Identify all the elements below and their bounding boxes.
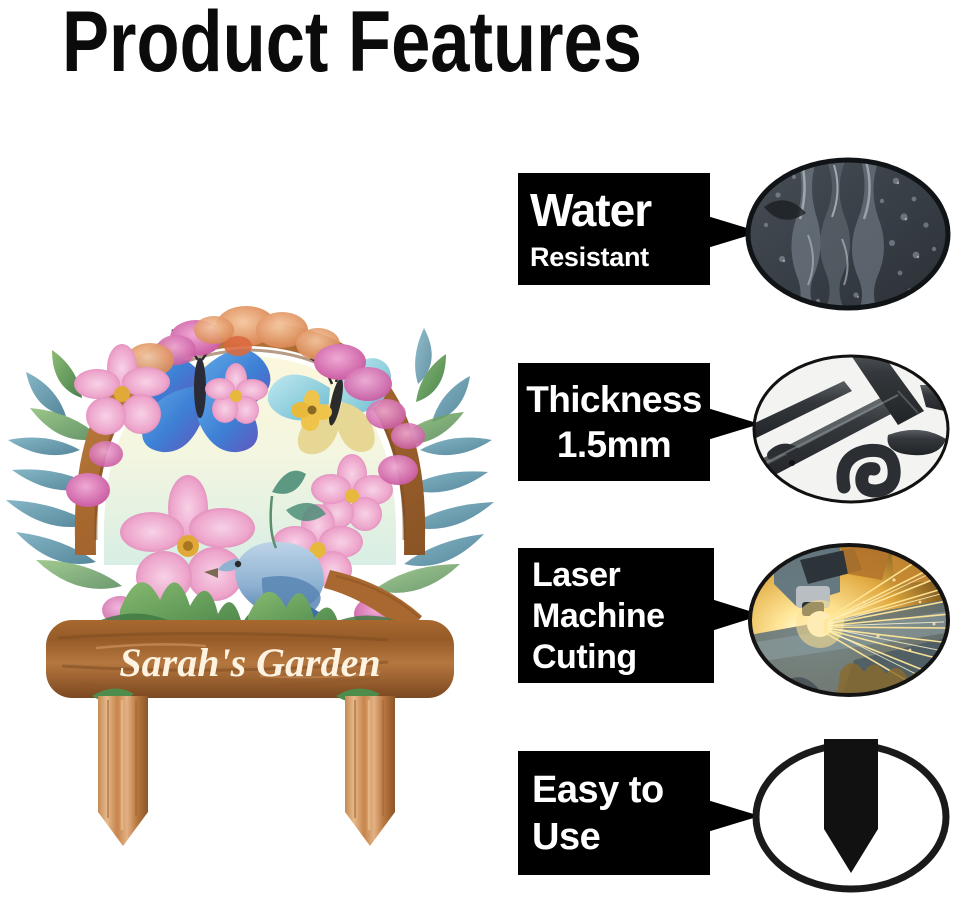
feature-label-line: Laser — [532, 558, 714, 592]
feature-label-box: Laser Machine Cuting — [518, 548, 714, 683]
feature-item-water-resistant: Water Resistant — [508, 155, 954, 315]
feature-label-line: Water — [530, 187, 710, 233]
feature-label-line: 1.5mm — [557, 426, 671, 463]
feature-label-box: Thickness 1.5mm — [518, 363, 710, 481]
feature-label-line: Machine — [532, 599, 714, 633]
sign-plank-text: Sarah's Garden — [119, 640, 380, 685]
feature-label-line: Easy to — [532, 771, 710, 809]
stake-left — [98, 696, 148, 846]
laser-cutting-photo — [744, 540, 954, 700]
feature-list: Water Resistant — [508, 155, 954, 900]
feature-label-line: Cuting — [532, 640, 714, 674]
stake-right — [345, 696, 395, 846]
feature-label-line: Resistant — [530, 244, 710, 271]
feature-label-line: Use — [532, 818, 710, 856]
metal-thickness-photo — [748, 351, 954, 507]
feature-item-thickness: Thickness 1.5mm — [508, 351, 954, 511]
water-droplets-photo — [742, 155, 954, 313]
feature-label-line: Thickness — [526, 381, 702, 418]
ground-stake-icon — [748, 733, 954, 897]
product-illustration: Sarah's Garden — [0, 140, 500, 860]
feature-item-laser-machine-cutting: Laser Machine Cuting — [508, 540, 954, 705]
feature-item-easy-to-use: Easy to Use — [508, 733, 954, 898]
feature-label-box: Easy to Use — [518, 751, 710, 875]
feature-label-box: Water Resistant — [518, 173, 710, 285]
page-title: Product Features — [62, 0, 734, 88]
